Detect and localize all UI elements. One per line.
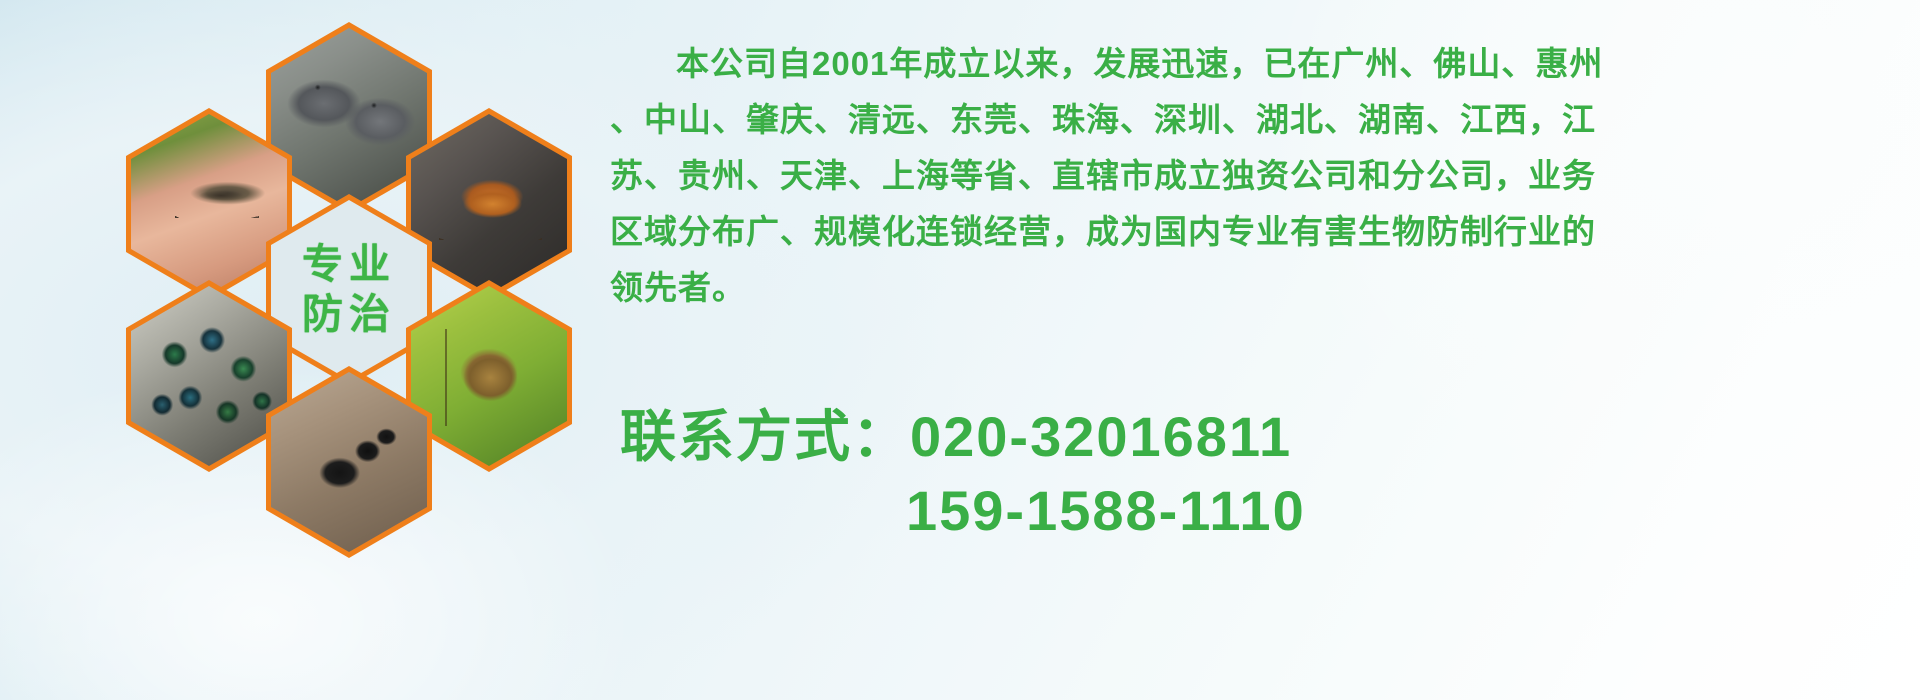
hex-badge-line2: 防治 (302, 292, 396, 338)
honeycomb-photo-cluster: 专业 防治 (78, 8, 598, 568)
description-line-3: 苏、贵州、天津、上海等省、直辖市成立独资公司和分公司，业务 (610, 157, 1596, 194)
contact-phone-primary[interactable]: 020-32016811 (910, 405, 1292, 468)
stinkbug-photo-inner (411, 286, 567, 466)
rats-image (271, 28, 427, 208)
company-description: 本公司自2001年成立以来，发展迅速，已在广州、佛山、惠州 、中山、肇庆、清远、… (610, 36, 1900, 316)
hex-badge-text: 专业 防治 (271, 200, 427, 380)
mosquito-image (131, 114, 287, 294)
ant-image (271, 372, 427, 552)
hex-badge-inner: 专业 防治 (271, 200, 427, 380)
description-line-4: 区域分布广、规模化连锁经营，成为国内专业有害生物防制行业的 (610, 213, 1596, 250)
flies-photo-inner (131, 286, 287, 466)
description-line-5: 领先者。 (610, 269, 746, 306)
mosquito-photo-inner (131, 114, 287, 294)
stinkbug-image (411, 286, 567, 466)
contact-phone-secondary[interactable]: 159-1588-1110 (620, 474, 1900, 548)
cockroach-image (411, 114, 567, 294)
contact-block: 联系方式：020-32016811 159-1588-1110 (620, 400, 1900, 548)
rats-photo-inner (271, 28, 427, 208)
ant-photo-inner (271, 372, 427, 552)
contact-label: 联系方式： (620, 405, 910, 468)
cockroach-photo-inner (411, 114, 567, 294)
hex-badge-line1: 专业 (302, 242, 396, 288)
description-line-1: 本公司自2001年成立以来，发展迅速，已在广州、佛山、惠州 (676, 45, 1603, 82)
description-line-2: 、中山、肇庆、清远、东莞、珠海、深圳、湖北、湖南、江西，江 (610, 101, 1596, 138)
company-profile-banner: 专业 防治 本公司自2001年成立以来，发展迅速，已在广州、佛山、惠州 、中山、… (0, 0, 1920, 700)
flies-image (131, 286, 287, 466)
